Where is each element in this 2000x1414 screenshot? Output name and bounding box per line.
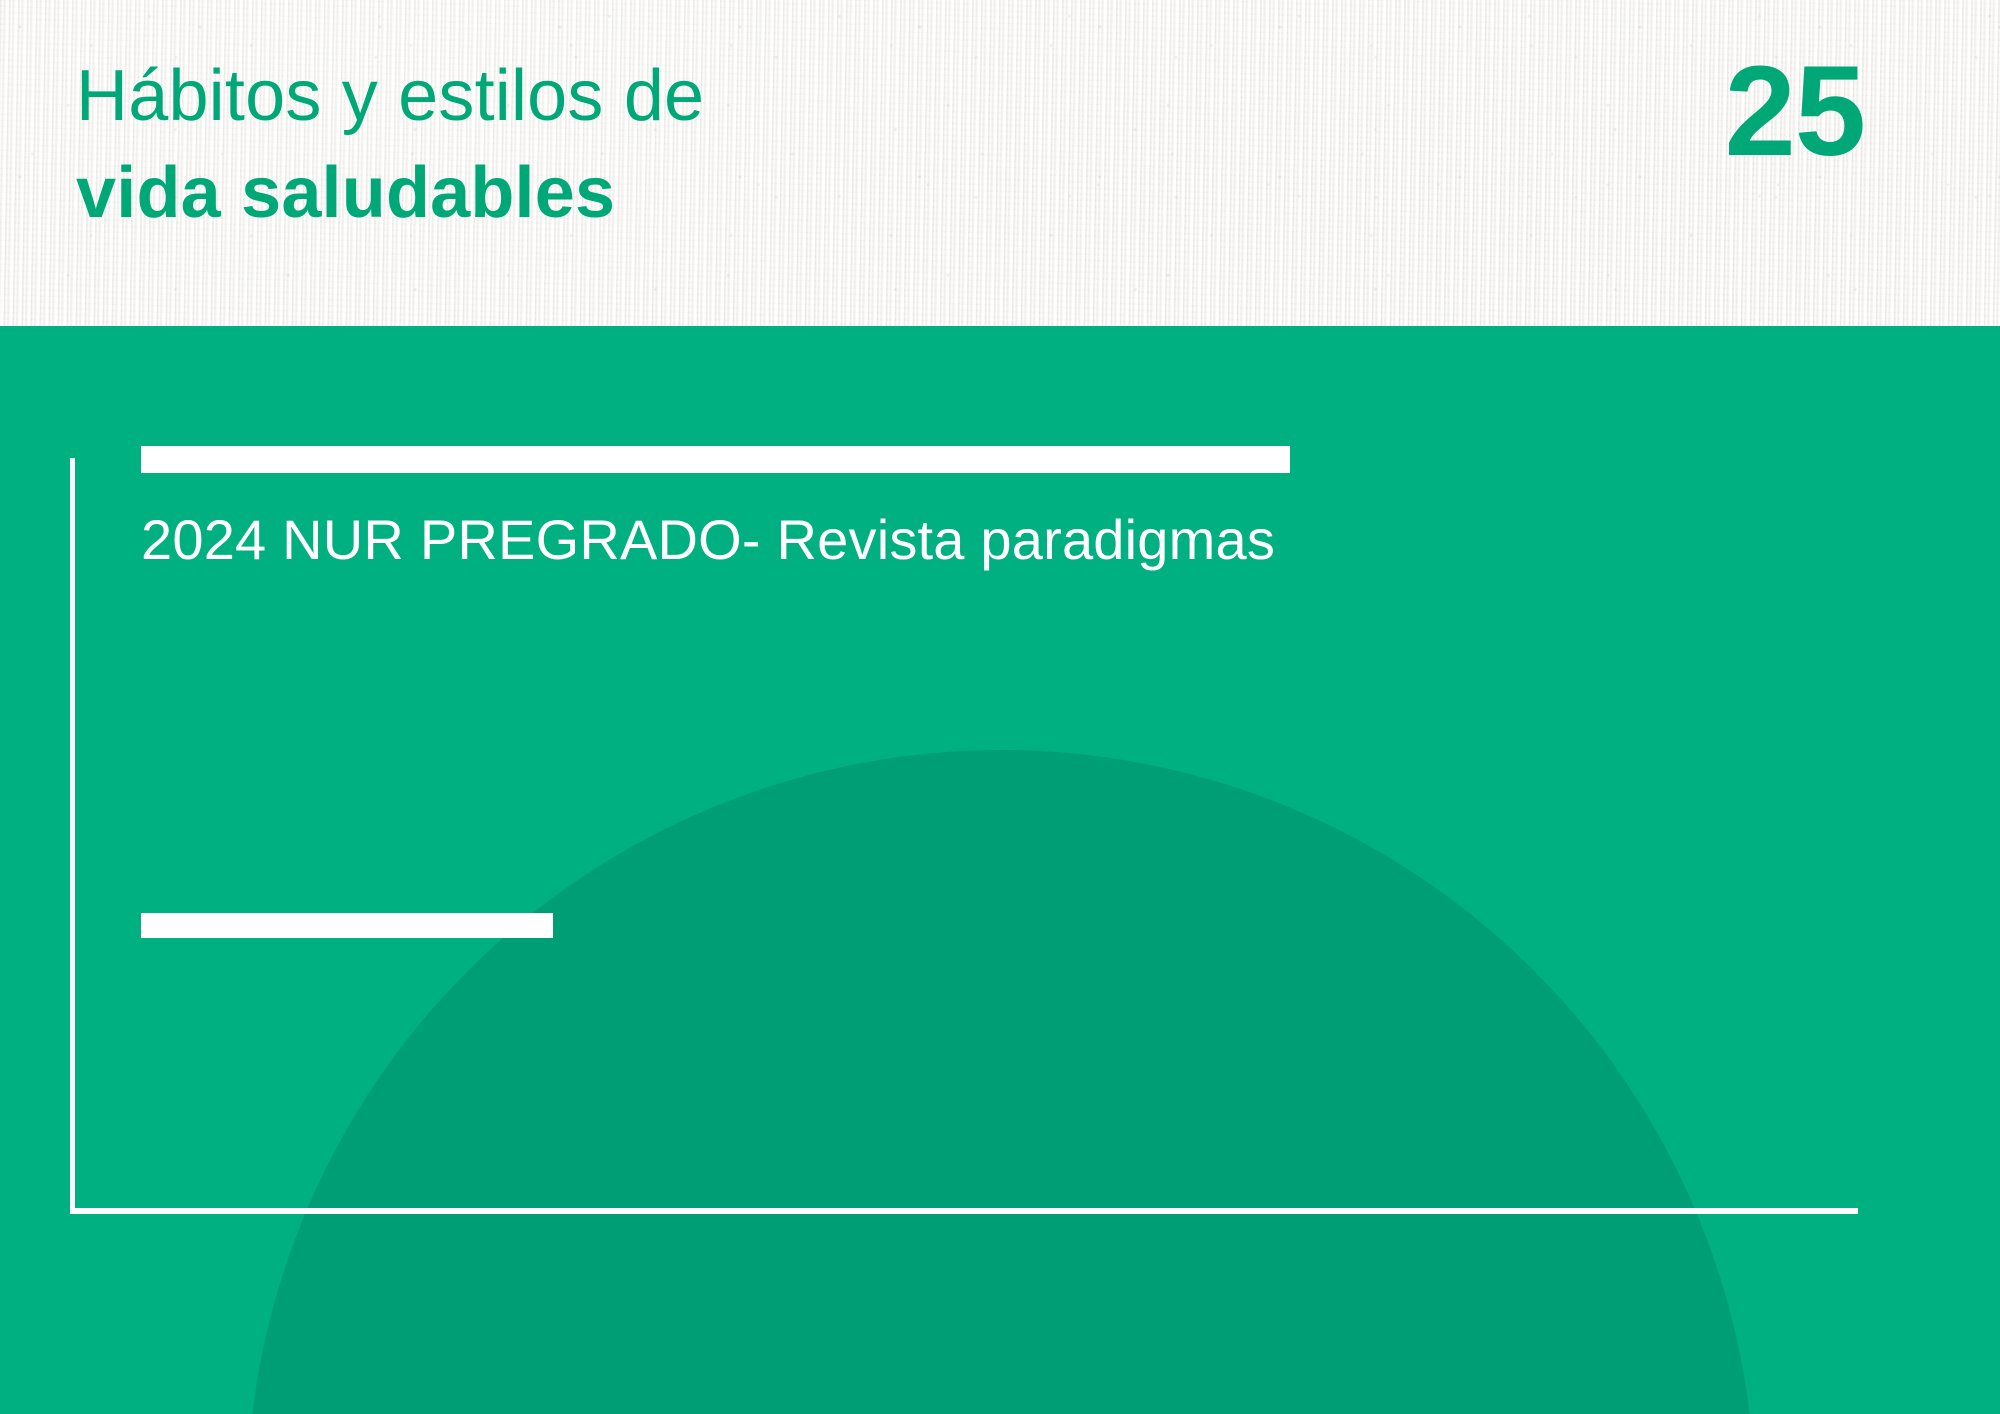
source-caption: 2024 NUR PREGRADO- Revista paradigmas	[141, 505, 1841, 575]
divider-bar-top	[141, 446, 1290, 473]
page-title-line-1: Hábitos y estilos de	[76, 48, 1176, 145]
content-panel: 2024 NUR PREGRADO- Revista paradigmas	[0, 326, 2000, 1414]
frame-bottom-rule	[70, 1208, 1858, 1214]
decorative-circle	[247, 750, 1755, 1414]
slide-canvas: Hábitos y estilos de vida saludables 25 …	[0, 0, 2000, 1414]
page-number: 25	[1725, 48, 1865, 176]
header-band: Hábitos y estilos de vida saludables 25	[0, 0, 2000, 326]
page-title: Hábitos y estilos de vida saludables	[76, 48, 1176, 242]
divider-bar-middle	[141, 913, 553, 938]
frame-vertical-rule	[70, 458, 75, 1213]
page-title-line-2: vida saludables	[76, 145, 1176, 242]
